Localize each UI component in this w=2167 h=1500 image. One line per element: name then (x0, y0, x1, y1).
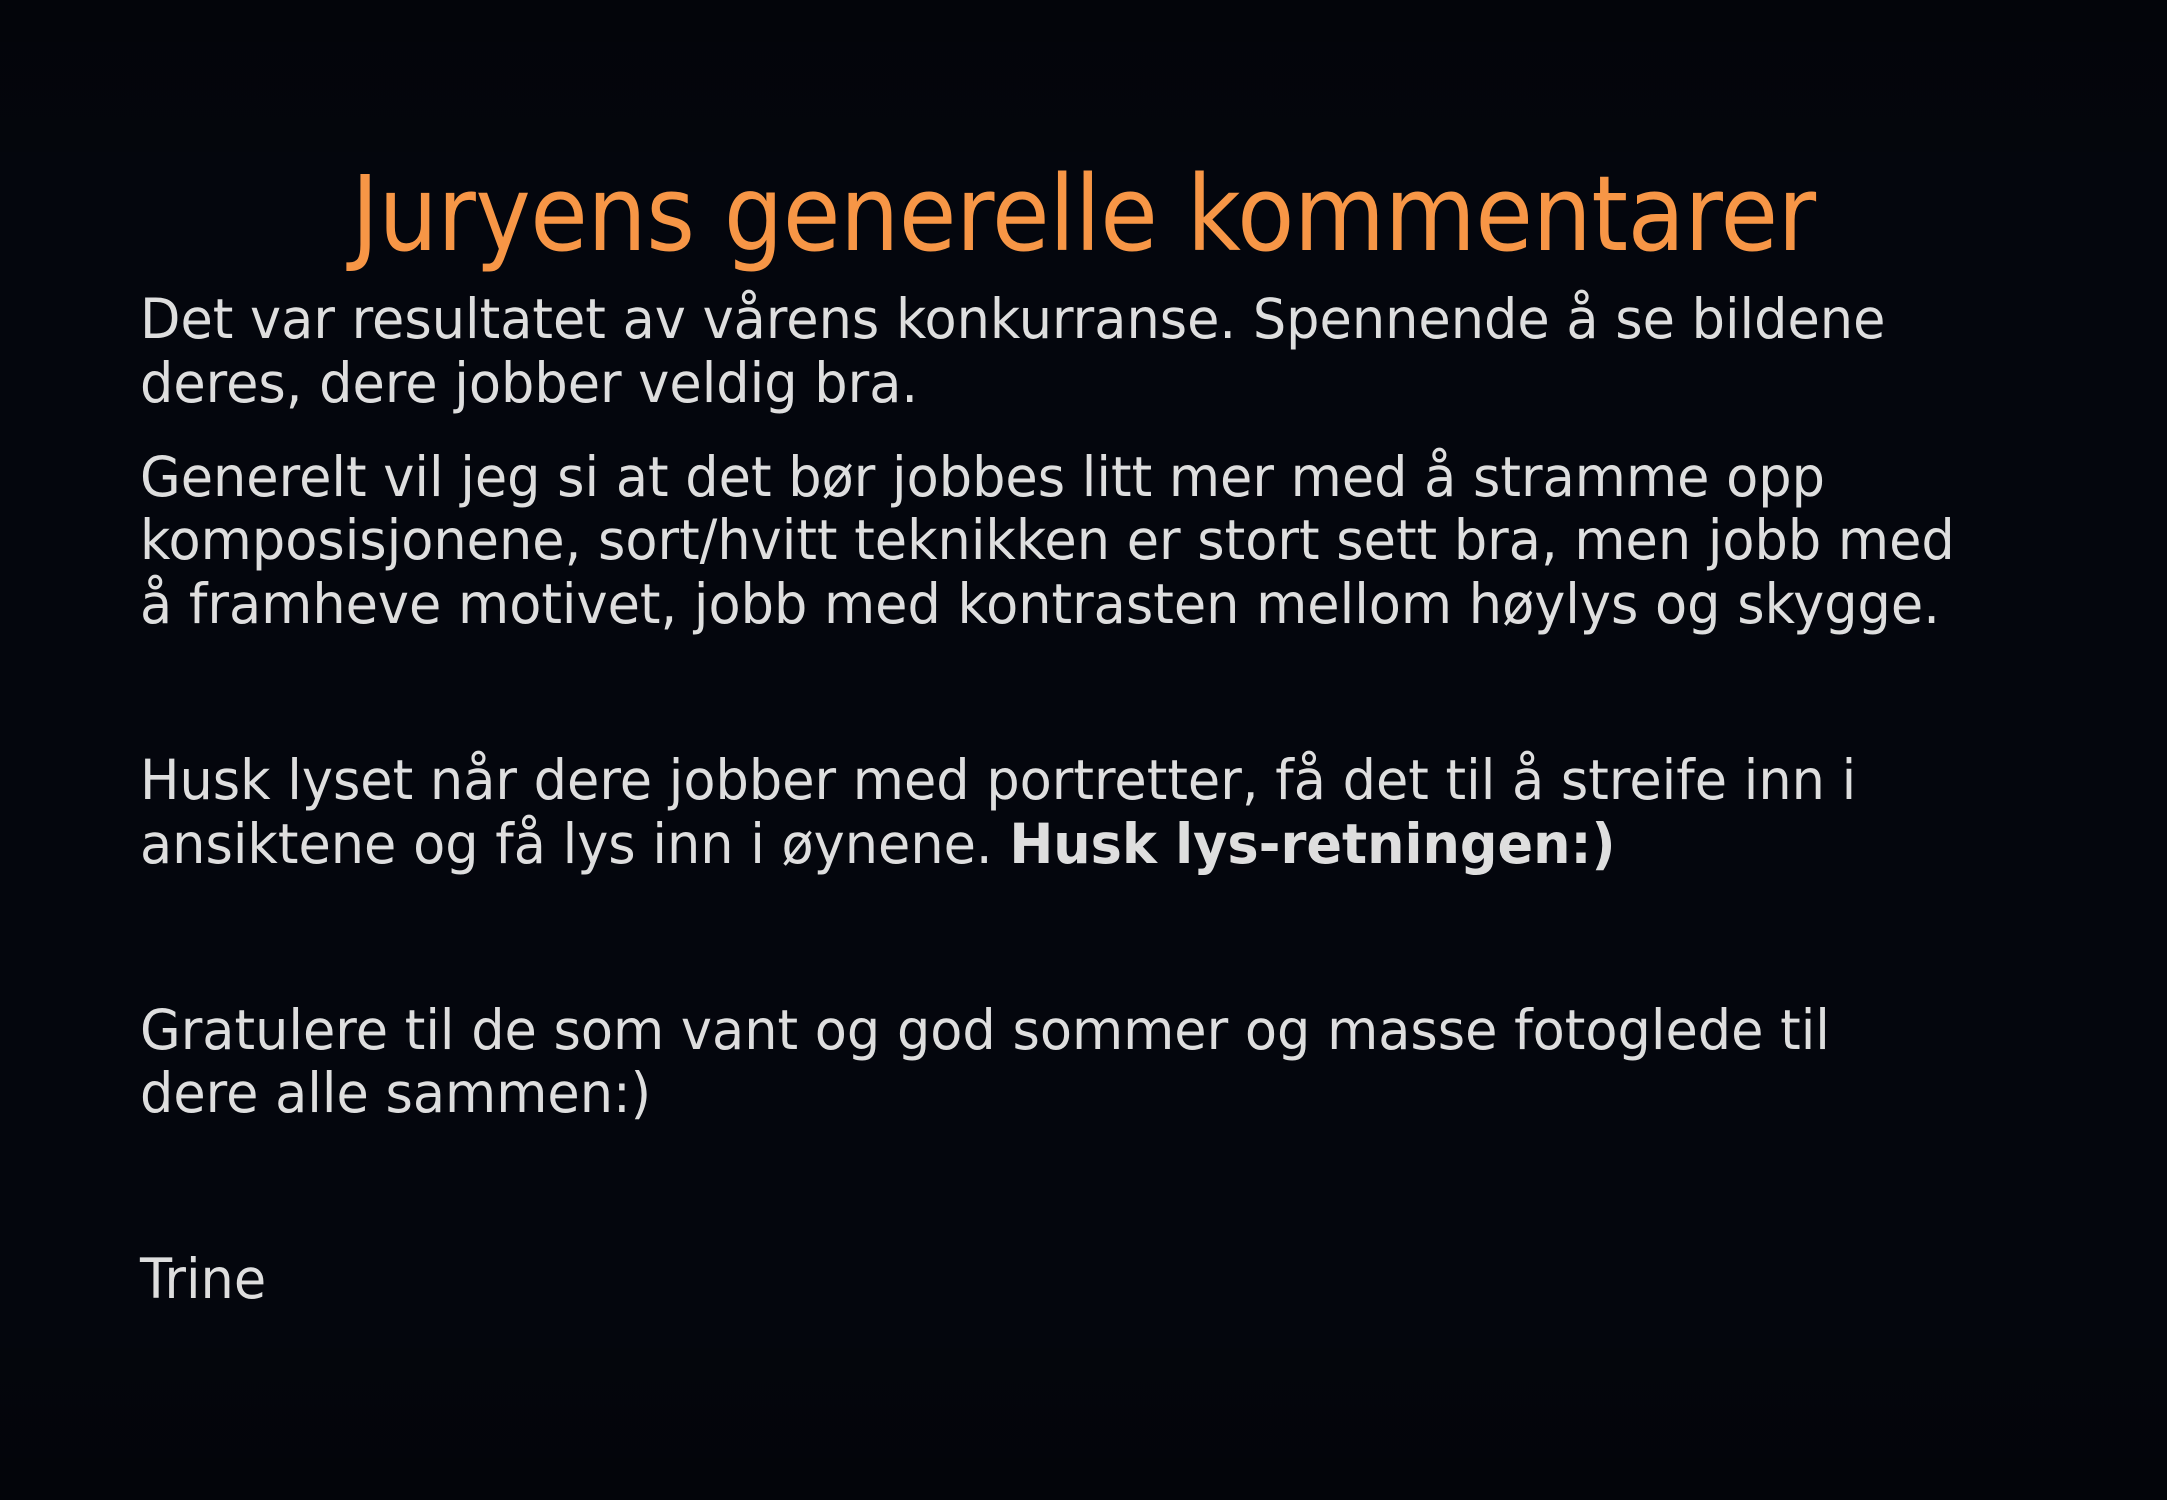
paragraph-spacer (140, 420, 2045, 446)
paragraph-spacer (140, 641, 2045, 749)
body-paragraph-3: Husk lyset når dere jobber med portrette… (140, 749, 1959, 877)
body-paragraph-1: Det var resultatet av vårens konkurranse… (140, 288, 1959, 416)
signature: Trine (140, 1248, 1959, 1312)
slide-canvas: Juryens generelle kommentarer Det var re… (0, 0, 2167, 1500)
body-paragraph-3-emphasis: Husk lys-retningen:) (1009, 812, 1615, 876)
slide-body: Det var resultatet av vårens konkurranse… (140, 288, 2045, 1316)
paragraph-spacer (140, 881, 2045, 999)
body-paragraph-4: Gratulere til de som vant og god sommer … (140, 999, 1959, 1127)
page-title: Juryens generelle kommentarer (108, 162, 2058, 266)
body-paragraph-2: Generelt vil jeg si at det bør jobbes li… (140, 446, 1959, 637)
paragraph-spacer (140, 1130, 2045, 1248)
